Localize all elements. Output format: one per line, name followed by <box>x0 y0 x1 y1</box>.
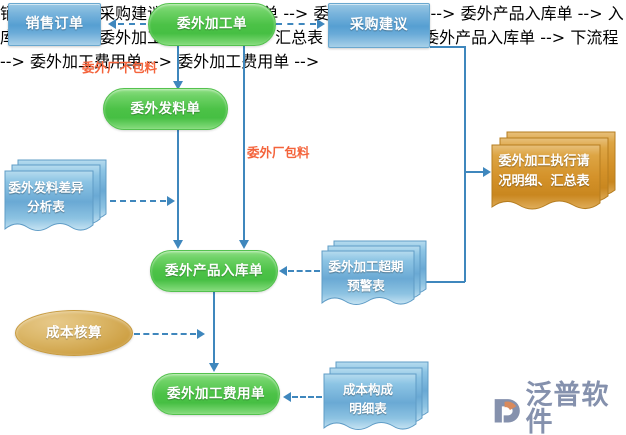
node-material-issue[interactable]: 委外发料单 <box>103 88 228 130</box>
connector-outsourcing-to-purchase <box>276 23 316 25</box>
node-purchase-advice-label: 采购建议 <box>350 16 408 35</box>
node-sales-order[interactable]: 销售订单 <box>8 3 101 46</box>
arrowhead-cost-accounting <box>197 329 205 339</box>
connector-elbow-to-execution-report <box>464 171 484 173</box>
arrowhead-variance-report <box>167 196 175 206</box>
arrowhead-outsourcing-to-receipt <box>239 240 249 249</box>
connector-overdue-to-receipt <box>288 270 320 272</box>
connector-purchase-elbow-top <box>430 46 466 48</box>
watermark-logo: 泛普软件 www.fanpusoft.com <box>492 382 626 435</box>
node-cost-accounting-label: 成本核算 <box>46 324 102 342</box>
annotation-material-supplied: 委外厂包料 <box>247 142 310 161</box>
connector-outsourcing-to-issue <box>177 46 179 84</box>
doc-sheets <box>322 360 430 432</box>
arrowhead-overdue-to-receipt <box>279 266 287 276</box>
flowchart-canvas: 销售订单 --> 采购建议 --> 委外发料单 --> 委外产品入库单 --> … <box>0 0 626 435</box>
node-material-issue-label: 委外发料单 <box>131 100 201 118</box>
doc-cost-composition-report[interactable]: 成本构成 明细表 <box>322 360 430 432</box>
connector-variance-report-to-flow <box>110 200 166 202</box>
doc-execution-detail-report[interactable]: 委外加工执行请 况明细、汇总表 <box>489 130 617 212</box>
logo-brand-text: 泛普软件 <box>526 382 626 435</box>
node-outsourcing-order[interactable]: 委外加工单 <box>148 3 276 46</box>
connector-cost-report-to-fee <box>292 396 322 398</box>
fanpu-mark-icon <box>492 394 523 425</box>
connector-elbow-bottom <box>426 281 465 283</box>
annotation-no-material-supplied: 委外厂不包料 <box>82 57 157 76</box>
node-cost-accounting[interactable]: 成本核算 <box>15 310 133 356</box>
doc-sheets <box>489 130 617 212</box>
node-outsourcing-order-label: 委外加工单 <box>177 15 247 33</box>
doc-overdue-warning-report[interactable]: 委外加工超期 预警表 <box>320 239 428 309</box>
logo-row: 泛普软件 <box>492 382 626 435</box>
connector-cost-accounting-to-flow <box>134 333 196 335</box>
connector-issue-to-receipt <box>177 130 179 240</box>
arrowhead-issue-to-receipt <box>173 240 183 249</box>
node-sales-order-label: 销售订单 <box>26 15 84 34</box>
arrowhead-receipt-to-fee <box>209 363 219 372</box>
arrowhead-to-purchase-advice <box>317 19 325 29</box>
node-processing-fee-label: 委外加工费用单 <box>167 385 265 403</box>
connector-outsourcing-to-sales <box>118 23 146 25</box>
node-product-receipt-label: 委外产品入库单 <box>165 262 263 280</box>
node-purchase-advice[interactable]: 采购建议 <box>328 3 430 48</box>
node-product-receipt[interactable]: 委外产品入库单 <box>150 250 278 292</box>
connector-purchase-elbow-vertical <box>464 46 466 282</box>
arrowhead-cost-report-to-fee <box>283 392 291 402</box>
connector-receipt-to-fee <box>213 292 215 364</box>
doc-sheets <box>320 239 428 309</box>
doc-issue-variance-report[interactable]: 委外发料差异 分析表 <box>2 158 108 234</box>
doc-sheets <box>2 158 108 234</box>
node-processing-fee[interactable]: 委外加工费用单 <box>152 373 280 415</box>
arrowhead-to-sales-order <box>108 19 116 29</box>
connector-outsourcing-to-receipt <box>243 46 245 240</box>
